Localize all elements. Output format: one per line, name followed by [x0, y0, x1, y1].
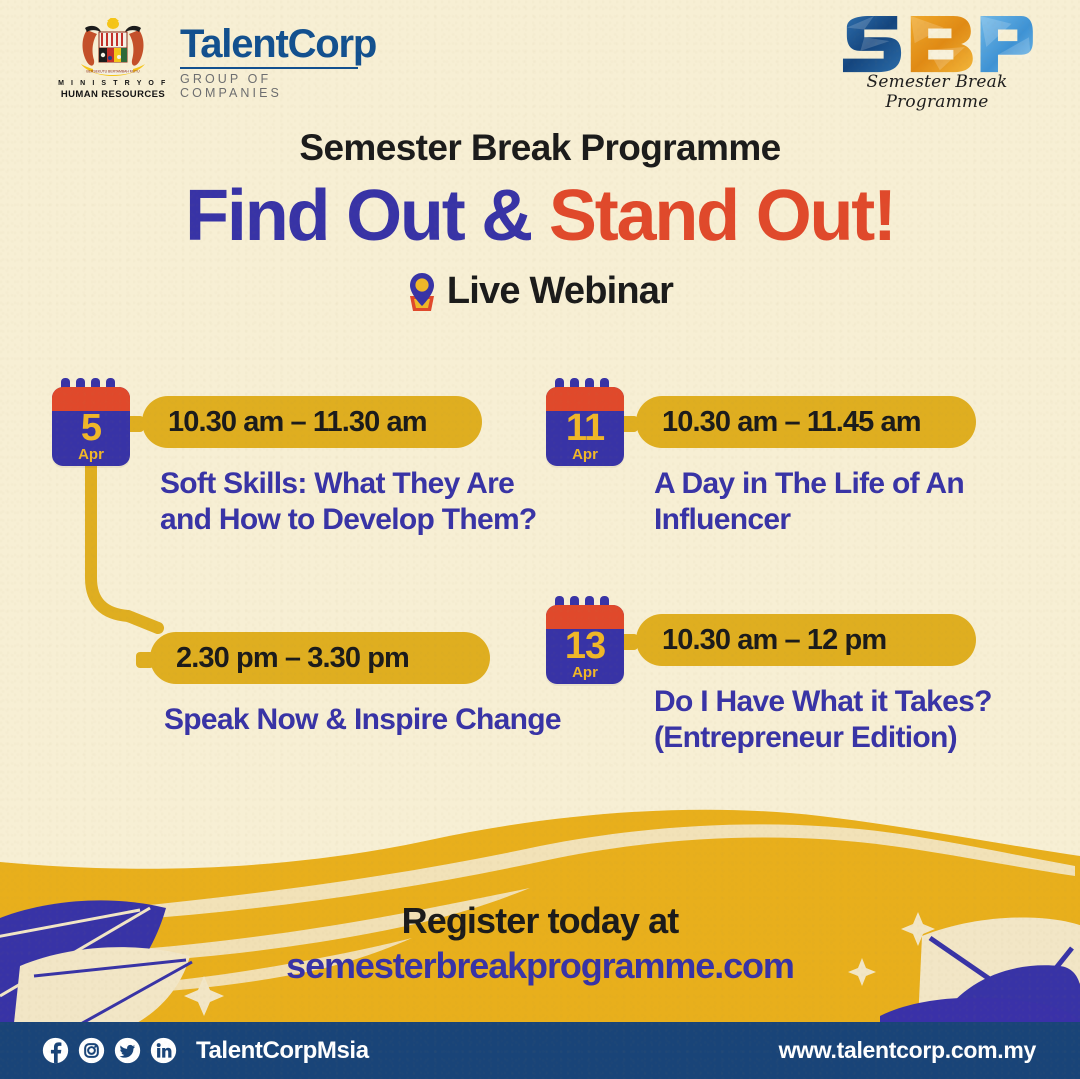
- cta-website-link[interactable]: semesterbreakprogramme.com: [0, 943, 1080, 988]
- sessions-grid: 5 Apr 10.30 am – 11.30 am Soft Skills: W…: [0, 378, 1080, 818]
- poster-canvas: BERSEKUTU BERTAMBAH MUTU M I N I S T R Y…: [0, 0, 1080, 1079]
- ministry-line-2: HUMAN RESOURCES: [58, 89, 168, 101]
- main-headline: Find Out & Stand Out!: [0, 175, 1080, 259]
- session-card[interactable]: 11 Apr 10.30 am – 11.45 am A Day in The …: [546, 378, 1046, 608]
- calendar-day: 13: [546, 627, 624, 665]
- sbp-script-label: Semester Break Programme: [832, 72, 1042, 112]
- session-time-pill: 10.30 am – 12 pm: [636, 614, 976, 666]
- instagram-icon[interactable]: [78, 1037, 105, 1064]
- session-time: 10.30 am – 12 pm: [662, 624, 886, 657]
- calendar-day: 11: [546, 409, 624, 447]
- calendar-icon: 13 Apr: [546, 596, 624, 684]
- session-time: 10.30 am – 11.30 am: [168, 406, 427, 439]
- session-time: 2.30 pm – 3.30 pm: [176, 642, 409, 675]
- footer-social-group: TalentCorpMsia: [42, 1037, 369, 1065]
- session-time-pill: 2.30 pm – 3.30 pm: [150, 632, 490, 684]
- session-time: 10.30 am – 11.45 am: [662, 406, 921, 439]
- calendar-icon: 5 Apr: [52, 378, 130, 466]
- session-title: Speak Now & Inspire Change: [164, 702, 564, 738]
- calendar-month: Apr: [52, 447, 130, 462]
- ministry-label: M I N I S T R Y O F HUMAN RESOURCES: [58, 80, 168, 101]
- social-icons: [42, 1037, 177, 1064]
- session-time-pill: 10.30 am – 11.45 am: [636, 396, 976, 448]
- facebook-icon[interactable]: [42, 1037, 69, 1064]
- footer-bar: TalentCorpMsia www.talentcorp.com.my: [0, 1022, 1080, 1079]
- footer-website[interactable]: www.talentcorp.com.my: [779, 1037, 1036, 1064]
- talentcorp-logo: TalentCorp GROUP OF COMPANIES: [180, 24, 365, 100]
- social-handle[interactable]: TalentCorpMsia: [196, 1037, 369, 1065]
- live-webinar-row: Live Webinar: [0, 270, 1080, 313]
- live-webinar-label: Live Webinar: [447, 270, 673, 313]
- session-card[interactable]: 2.30 pm – 3.30 pm Speak Now & Inspire Ch…: [52, 612, 552, 802]
- session-card[interactable]: 5 Apr 10.30 am – 11.30 am Soft Skills: W…: [52, 378, 552, 608]
- sbp-logo: Semester Break Programme: [832, 14, 1042, 110]
- location-pin-icon: [407, 272, 437, 312]
- calendar-icon: 11 Apr: [546, 378, 624, 466]
- calendar-month: Apr: [546, 665, 624, 680]
- talentcorp-tagline: GROUP OF COMPANIES: [180, 72, 365, 100]
- session-title: A Day in The Life of An Influencer: [654, 466, 1054, 538]
- headline-part-blue: Find Out &: [185, 176, 531, 256]
- cta-line-1: Register today at: [0, 900, 1080, 941]
- session-time-pill: 10.30 am – 11.30 am: [142, 396, 482, 448]
- poster-header: BERSEKUTU BERTAMBAH MUTU M I N I S T R Y…: [0, 0, 1080, 120]
- session-title: Do I Have What it Takes? (Entrepreneur E…: [654, 684, 1074, 756]
- ministry-logo: BERSEKUTU BERTAMBAH MUTU M I N I S T R Y…: [52, 18, 174, 108]
- malaysia-coat-of-arms-icon: BERSEKUTU BERTAMBAH MUTU: [67, 18, 159, 80]
- headline-part-red: Stand Out!: [549, 176, 895, 256]
- session-card[interactable]: 13 Apr 10.30 am – 12 pm Do I Have What i…: [546, 596, 1046, 826]
- calendar-day: 5: [52, 409, 130, 447]
- ministry-line-1: M I N I S T R Y O F: [58, 80, 168, 89]
- svg-text:BERSEKUTU BERTAMBAH MUTU: BERSEKUTU BERTAMBAH MUTU: [86, 70, 140, 74]
- sbp-monogram-icon: [832, 14, 1038, 76]
- title-block: Semester Break Programme Find Out & Stan…: [0, 128, 1080, 313]
- programme-eyebrow: Semester Break Programme: [0, 128, 1080, 169]
- talentcorp-rule: [180, 67, 358, 69]
- talentcorp-wordmark: TalentCorp: [180, 24, 365, 64]
- twitter-icon[interactable]: [114, 1037, 141, 1064]
- session-title: Soft Skills: What They Are and How to De…: [160, 466, 560, 538]
- calendar-month: Apr: [546, 447, 624, 462]
- call-to-action: Register today at semesterbreakprogramme…: [0, 900, 1080, 988]
- linkedin-icon[interactable]: [150, 1037, 177, 1064]
